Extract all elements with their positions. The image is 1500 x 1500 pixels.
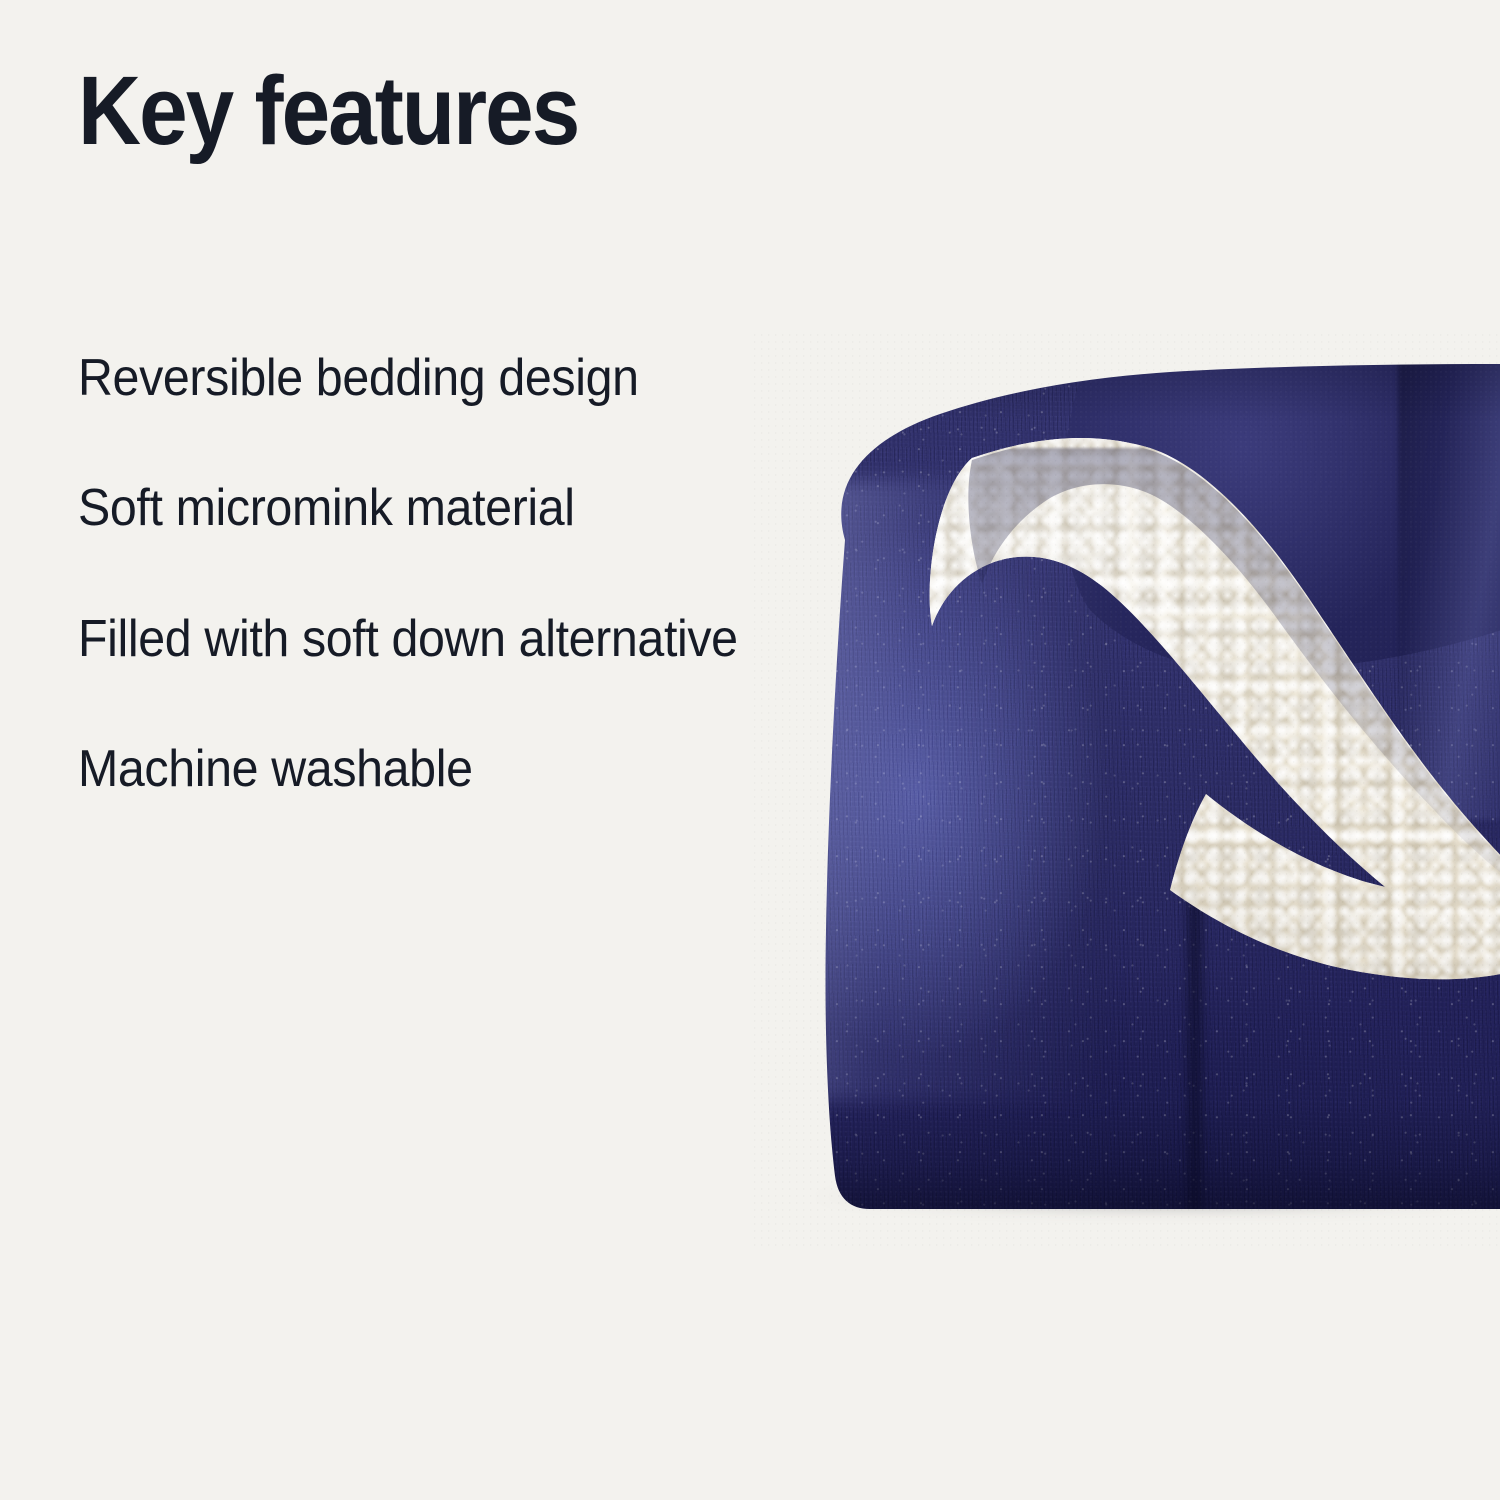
list-item: Soft micromink material (78, 478, 748, 538)
feature-text-column: Key features Reversible bedding design S… (78, 0, 808, 1500)
list-item: Machine washable (78, 739, 748, 799)
product-feature-infographic: Key features Reversible bedding design S… (0, 0, 1500, 1500)
page-title: Key features (78, 62, 578, 159)
blanket-right-fold-crease (1398, 350, 1500, 820)
blanket-top-edge-shading (750, 330, 1500, 420)
list-item: Filled with soft down alternative (78, 609, 748, 669)
product-image (750, 330, 1500, 1250)
key-features-list: Reversible bedding design Soft micromink… (78, 348, 798, 799)
list-item: Reversible bedding design (78, 348, 748, 408)
blanket-bottom-roll-shading (750, 1100, 1500, 1220)
